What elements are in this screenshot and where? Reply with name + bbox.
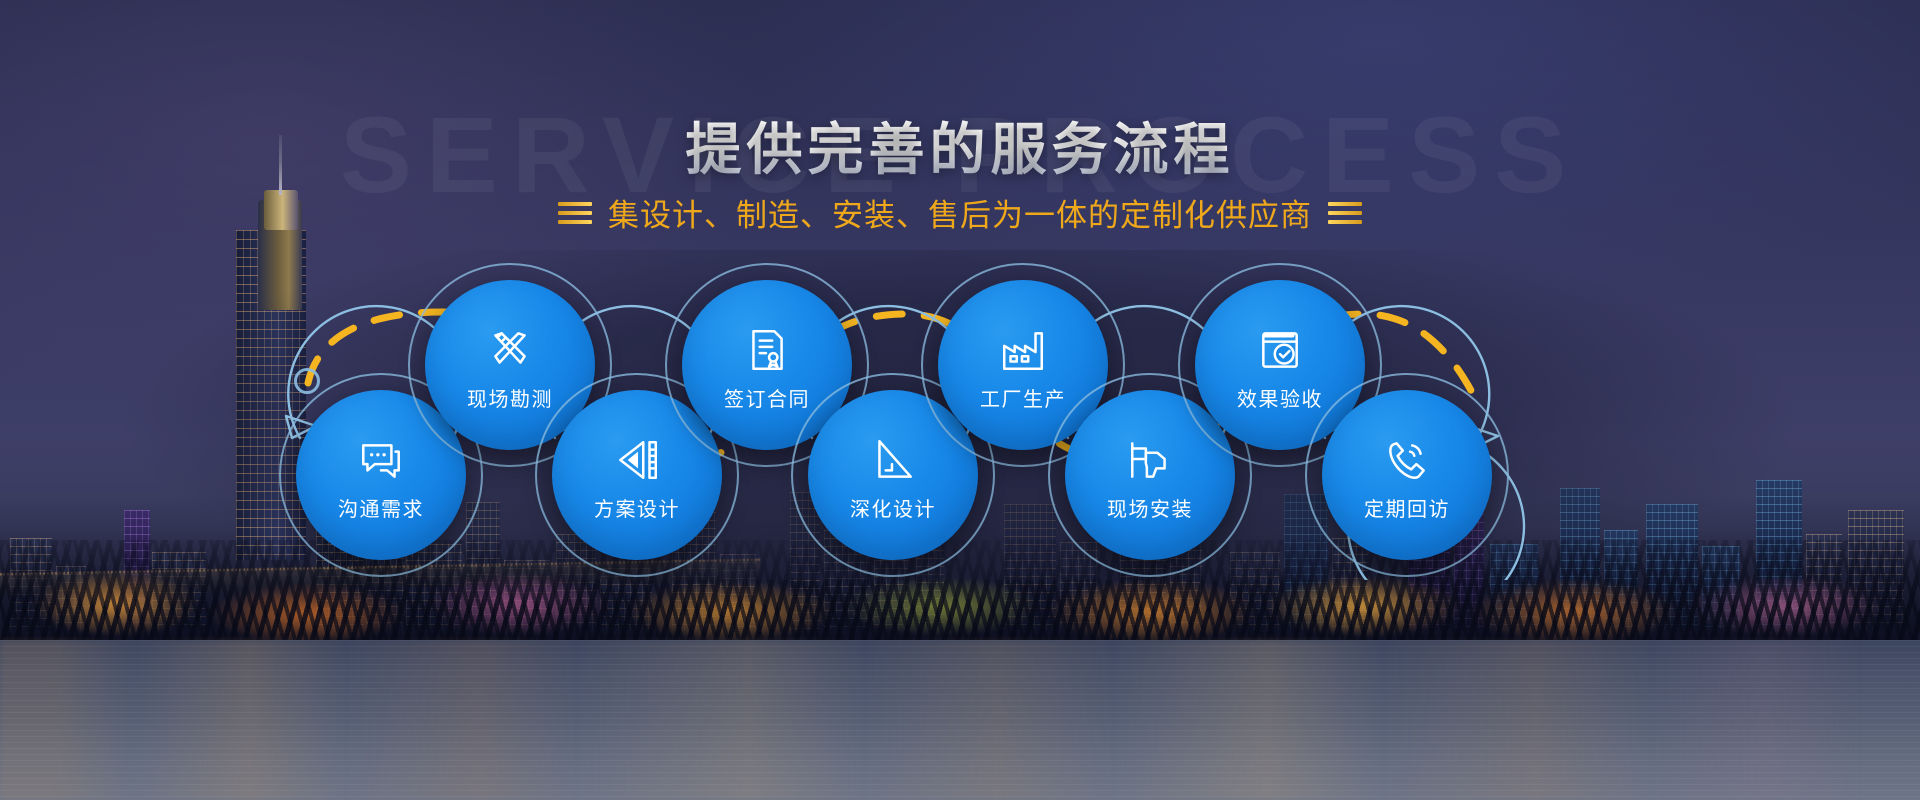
step-label: 沟通需求 xyxy=(338,493,424,522)
step-label: 签订合同 xyxy=(724,383,810,412)
step-label: 定期回访 xyxy=(1364,493,1450,522)
factory-icon xyxy=(998,325,1048,375)
page-title: 提供完善的服务流程 xyxy=(686,105,1235,186)
checked-window-icon xyxy=(1255,325,1305,375)
subtitle-row: 集设计、制造、安装、售后为一体的定制化供应商 xyxy=(558,190,1362,235)
service-process-banner: SERVICE PROCESS 提供完善的服务流程 集设计、制造、安装、售后为一… xyxy=(0,0,1920,800)
step-label: 深化设计 xyxy=(850,493,936,522)
page-subtitle: 集设计、制造、安装、售后为一体的定制化供应商 xyxy=(608,190,1312,235)
right-dashes-icon xyxy=(1328,202,1362,224)
process-step-9[interactable]: 定期回访 xyxy=(1322,390,1492,560)
survey-tools-icon xyxy=(485,325,535,375)
water-reflection xyxy=(0,640,1920,800)
left-dashes-icon xyxy=(558,202,592,224)
step-label: 现场安装 xyxy=(1107,493,1193,522)
step-label: 效果验收 xyxy=(1237,383,1323,412)
set-square-icon xyxy=(868,435,918,485)
design-ruler-icon xyxy=(612,435,662,485)
chat-bubble-icon xyxy=(356,435,406,485)
power-drill-icon xyxy=(1125,435,1175,485)
phone-call-icon xyxy=(1382,435,1432,485)
process-flow: 沟通需求 现场勘测 xyxy=(0,250,1920,580)
step-label: 现场勘测 xyxy=(467,383,553,412)
step-label: 方案设计 xyxy=(594,493,680,522)
step-label: 工厂生产 xyxy=(980,383,1066,412)
contract-icon xyxy=(742,325,792,375)
